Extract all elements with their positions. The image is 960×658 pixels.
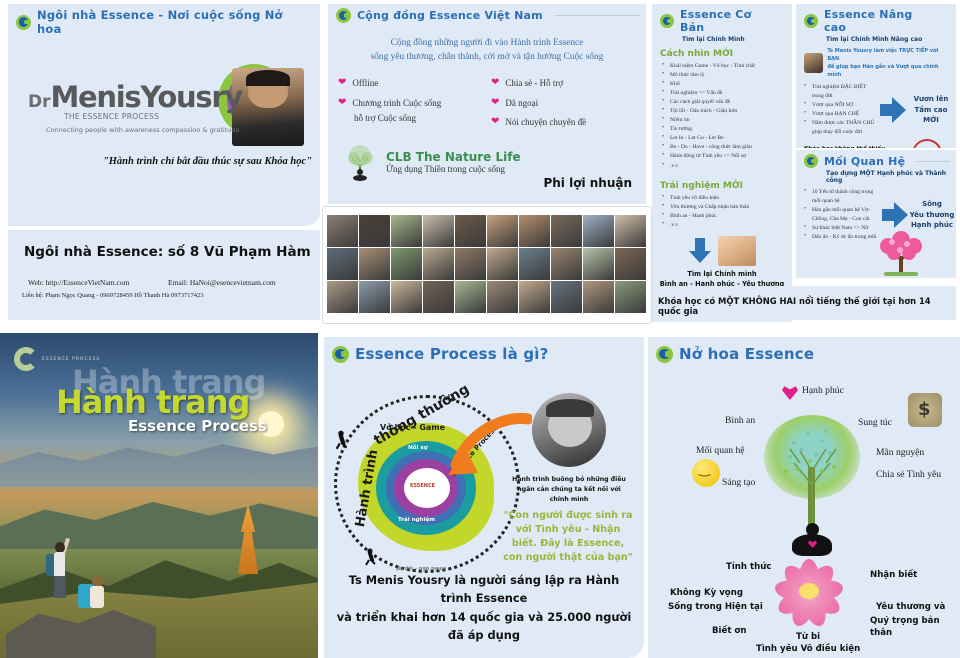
heart-icon: ❤ (338, 78, 346, 88)
photo-thumbnail (519, 281, 550, 313)
clb-subtitle: Ứng dụng Thiền trong cuộc sống (386, 164, 521, 174)
watermark-text: ESSENCE PROCESS (42, 357, 100, 362)
photo-thumbnail (455, 215, 486, 247)
heart-tree-icon (866, 230, 936, 276)
photo-thumbnail (487, 281, 518, 313)
photo-thumbnail (359, 281, 390, 313)
panel-photo-grid (322, 206, 652, 324)
journey-title: Hành trang (56, 383, 249, 421)
website-link[interactable]: Web: http://EssenceVietNam.com (28, 278, 129, 287)
list-item: Khái niệm Game - Vỏ bọc - Tính chất (662, 62, 788, 71)
essence-logo-icon (656, 346, 673, 363)
list-item-continuation: hỗ trợ Cuộc sống (354, 113, 487, 123)
walking-person-icon (330, 429, 352, 451)
label-happiness: Hạnh phúc (802, 385, 844, 396)
brand-tagline-1: THE ESSENCE PROCESS (64, 112, 159, 121)
clb-title: CLB The Nature Life (386, 150, 521, 164)
panel-subtitle: Tạo dựng MỘT Hạnh phúc và Thành công (826, 170, 956, 184)
course-quote: "Hành trình chỉ bắt đầu thúc sự sau Khóa… (44, 156, 312, 167)
panel-title: Ngôi nhà Essence - Nơi cuộc sống Nở hoa (37, 8, 302, 36)
photo-thumbnail (615, 281, 646, 313)
photo-thumbnail (391, 281, 422, 313)
advanced-note-row: Khóa học không thể thiếu cho Essence Pro… (796, 139, 956, 148)
list-item: Khổ (662, 80, 788, 89)
photo-thumbnail (583, 215, 614, 247)
advanced-intro-line1: Ts Menis Yousry làm việc TRỰC TIẾP với B… (827, 47, 950, 63)
panel-title: Essence Nâng cao (824, 8, 938, 34)
section-title-new-experience: Trải nghiệm MỚI (660, 181, 792, 191)
panel-header: Cộng đồng Essence Việt Nam (328, 4, 646, 25)
panel-essence-advanced: Essence Nâng cao Tìm lại Chính Mình Nâng… (796, 4, 956, 148)
panel-title: Essence Cơ Bản (680, 8, 774, 34)
label-unconditional-love: Tình yêu Vô điều kiện (756, 643, 860, 655)
photo-thumbnail (423, 281, 454, 313)
list-item: Mô thức tâm lý (662, 71, 788, 80)
heart-icon: ❤ (491, 78, 499, 88)
list-item: ❤ Offline (338, 78, 487, 89)
label-live-present: Sống trong Hiện tại (668, 601, 763, 613)
list-item: Các cách giải quyết vấn đề (662, 98, 788, 107)
photo-thumbnail (551, 281, 582, 313)
money-bag-icon (908, 393, 942, 427)
photo-thumbnail (455, 248, 486, 280)
photo-thumbnail (487, 215, 518, 247)
list-item: Vượt qua HẠN CHẾ (804, 110, 876, 119)
photo-thumbnail (327, 215, 358, 247)
panel-subtitle: Tìm lại Chính Mình Nâng cao (826, 36, 956, 43)
essence-logo-icon (332, 346, 349, 363)
label-gratitude: Biết ơn (712, 625, 746, 637)
panel-header: Nở hoa Essence (648, 337, 960, 365)
panel-title: Cộng đồng Essence Việt Nam (357, 9, 543, 22)
list-item: ❤ Chia sẻ - Hỗ trợ (491, 78, 640, 89)
panel-subtitle: Tìm lại Chính Mình (682, 36, 792, 43)
brand-wordmark: DrMenisYousry (28, 80, 242, 114)
brand-tagline-2: Connecting people with awareness compass… (46, 126, 240, 134)
list-item: Tình yêu vô điều kiện (662, 194, 788, 203)
hiker-standing (46, 538, 76, 600)
panel-header: Essence Cơ Bản (652, 4, 792, 36)
list-item: Hàn gắn mối quan hệ Vợ-Chồng, Cha Mẹ - C… (804, 206, 878, 224)
label-peace: Bình an (725, 415, 755, 426)
menis-avatar-icon (804, 53, 823, 73)
community-lead: Cộng đồng những người đi vào Hành trình … (338, 37, 636, 64)
panel-essence-process: Essence Process là gì? ESSENCE Vỏ bọc - … (324, 337, 644, 658)
panel-relationship: Mối Quan Hệ Tạo dựng MỘT Hạnh phúc và Th… (796, 150, 956, 278)
list-item: .v.v (662, 162, 788, 171)
panel-address-card: Ngôi nhà Essence: số 8 Vũ Phạm Hàm Web: … (8, 230, 320, 320)
ring-icon (14, 347, 38, 371)
panel-community: Cộng đồng Essence Việt Nam Cộng đồng nhữ… (328, 4, 646, 204)
panel-header: Ngôi nhà Essence - Nơi cuộc sống Nở hoa (8, 4, 320, 38)
list-item: ❤ Chương trình Cuộc sống (338, 98, 487, 109)
photo-thumbnail (615, 248, 646, 280)
advanced-note-1: Khóa học không thể thiếu cho (804, 145, 898, 148)
photo-thumbnail (327, 248, 358, 280)
list-item: .v.v (662, 221, 788, 230)
label-creativity: Sáng tạo (722, 477, 755, 488)
photo-thumbnail (327, 281, 358, 313)
right-arrow-icon (882, 202, 908, 228)
panel-header: Essence Process là gì? (324, 337, 644, 365)
contact-phones: Liên hệ: Phạm Ngọc Quang - 0969728459 Hồ… (22, 292, 204, 299)
smiley-face-icon (692, 459, 720, 487)
bloom-tree-icon (760, 413, 864, 533)
banner-text: Khóa học có MỘT KHÔNG HAI nổi tiếng thế … (652, 286, 956, 316)
photo-thumbnail (423, 248, 454, 280)
mountain-ridge-far (0, 429, 318, 487)
tree-icon (340, 142, 380, 182)
basic-result-row (652, 236, 792, 266)
new-view-list: Khái niệm Game - Vỏ bọc - Tính chấtMô th… (662, 62, 788, 171)
booked-stamp-icon: BOOKED (909, 136, 945, 148)
list-item: ❤ Nói chuyện chuyên đề (491, 117, 640, 128)
new-experience-list: Tình yêu vô điều kiệnYêu thương và Chấp … (662, 194, 788, 230)
smiling-woman-photo (718, 236, 756, 266)
photo-thumbnail (519, 215, 550, 247)
photo-thumbnail (455, 281, 486, 313)
list-item: ❤ Dã ngoại (491, 98, 640, 109)
list-item: Be - Do - Have - công thức làm giàu (662, 143, 788, 152)
panel-title: Mối Quan Hệ (824, 155, 905, 168)
essence-logo-icon (804, 154, 818, 168)
advanced-outcome: Vươn lên Tầm cao MỚI (906, 94, 956, 126)
label-awareness: Nhận biết (870, 569, 917, 581)
list-item: Vượt qua NỖI SỢ (804, 101, 876, 110)
journey-subtitle: Essence Process (128, 417, 267, 435)
list-item: 10 Yếu tố thành công trong mối quan hệ (804, 188, 878, 206)
photo-thumbnail (487, 248, 518, 280)
journey-photo-panel: ESSENCE PROCESS Hành trang Hành trang Es… (0, 333, 318, 658)
pink-heart-icon (782, 385, 798, 400)
photo-thumbnail (359, 215, 390, 247)
heart-icon: ❤ (338, 98, 346, 108)
menis-yousry-photo (232, 68, 304, 146)
photo-thumbnail (391, 215, 422, 247)
panel-header: Mối Quan Hệ (796, 150, 956, 170)
address-title: Ngôi nhà Essence: số 8 Vũ Phạm Hàm (24, 244, 311, 260)
community-activities: ❤ Offline ❤ Chương trình Cuộc sống hỗ tr… (338, 78, 640, 136)
menis-portrait-icon (532, 393, 606, 467)
portrait-caption: Hành trình buông bỏ những điều ngăn cản … (504, 475, 634, 506)
hiker-sitting (78, 574, 112, 622)
relationship-outcome: Sống Yêu thương Hạnh phúc (908, 199, 956, 231)
header-rule (555, 15, 640, 16)
email-link[interactable]: Email: HaNoi@esencevietnam.com (168, 278, 276, 287)
activities-left: ❤ Offline ❤ Chương trình Cuộc sống hỗ tr… (338, 78, 487, 136)
list-item: Hành động từ Tình yêu <> Nỗi sợ (662, 152, 788, 161)
photo-thumbnail (583, 281, 614, 313)
founder-footer: Ts Menis Yousry là người sáng lập ra Hàn… (334, 571, 634, 644)
list-item: Tin tưởng (662, 125, 788, 134)
panel-title: Essence Process là gì? (355, 345, 549, 363)
photo-thumbnail (391, 248, 422, 280)
down-arrow-icon (688, 238, 712, 264)
label-self-respect: Quý trọng bản thân (870, 615, 960, 639)
panel-essence-basic: Essence Cơ Bản Tìm lại Chính Mình Cách n… (652, 4, 792, 322)
advanced-intro: Ts Menis Yousry làm việc TRỰC TIẾP với B… (804, 47, 950, 79)
list-item: Bình an - Hạnh phúc (662, 212, 788, 221)
essence-quote: "Con người được sinh ra với Tình yêu - N… (500, 509, 636, 565)
worldwide-banner: Khóa học có MỘT KHÔNG HAI nổi tiếng thế … (652, 286, 956, 320)
community-photo-grid (327, 215, 646, 313)
list-item: Trải nghiệm <> Vấn đề (662, 89, 788, 98)
core-label: ESSENCE (410, 483, 435, 489)
heart-icon: ❤ (491, 98, 499, 108)
ring-mid-label: Nỗi sợ (408, 445, 428, 451)
label-awakening: Tỉnh thức (726, 561, 771, 573)
photo-thumbnail (551, 248, 582, 280)
essence-logo-icon (660, 14, 674, 28)
activities-right: ❤ Chia sẻ - Hỗ trợ ❤ Dã ngoại ❤ Nói chuy… (491, 78, 640, 136)
panel-bloom: Nở hoa Essence Hạnh phúc Bình an Mối qua… (648, 337, 960, 658)
essence-logo-icon (804, 14, 818, 28)
label-no-expectation: Không Kỳ vọng (670, 587, 743, 599)
photo-thumbnail (423, 215, 454, 247)
list-item: Let In - Let Go - Let Be (662, 134, 788, 143)
label-fulfilment: Mãn nguyện (876, 447, 924, 458)
section-title-new-view: Cách nhìn MỚI (660, 49, 792, 59)
list-item: Niềm tin (662, 116, 788, 125)
clb-text: CLB The Nature Life Ứng dụng Thiền trong… (386, 150, 521, 174)
essence-logo-icon (336, 8, 351, 23)
photo-thumbnail (359, 248, 390, 280)
walking-person-icon-2 (360, 547, 380, 567)
essence-logo-icon (16, 15, 31, 30)
panel-essence-house: Ngôi nhà Essence - Nơi cuộc sống Nở hoa … (8, 4, 320, 226)
label-love-and: Yêu thương và (876, 601, 945, 613)
list-item: Nắm được các THẦN CHÚ giúp thay đổi cuộc… (804, 119, 876, 137)
advanced-intro-line2: để giúp bạn Hàn gắn và Vượt qua chính mì… (827, 63, 950, 79)
poster-page: Ngôi nhà Essence - Nơi cuộc sống Nở hoa … (0, 0, 960, 658)
panel-header: Essence Nâng cao (796, 4, 956, 36)
photo-thumbnail (519, 248, 550, 280)
nonprofit-label: Phi lợi nhuận (543, 176, 632, 190)
list-item: Trải nghiệm ĐẶC BIỆT trong đời (804, 83, 876, 101)
label-share-love: Chia sẻ Tình yêu (876, 469, 941, 480)
ring-inner-label: Trải nghiệm (398, 517, 435, 523)
list-item: Tội lỗi - Oán trách - Giận hờn (662, 107, 788, 116)
advanced-body: Trải nghiệm ĐẶC BIỆT trong đờiVượt qua N… (796, 83, 956, 137)
advanced-list: Trải nghiệm ĐẶC BIỆT trong đờiVượt qua N… (804, 83, 876, 137)
photo-thumbnail (551, 215, 582, 247)
label-compassion: Từ bi (796, 631, 820, 643)
label-relationship: Mối quan hệ (696, 445, 745, 456)
panel-title: Nở hoa Essence (679, 345, 814, 363)
lotus-flower-icon (766, 555, 852, 631)
photo-thumbnail (615, 215, 646, 247)
photo-thumbnail (583, 248, 614, 280)
right-arrow-icon (880, 97, 906, 123)
dr-menis-yousry-logo: DrMenisYousry THE ESSENCE PROCESS Connec… (22, 66, 308, 152)
advanced-stamp-block: BOOKED Hạn chế Số lượng (898, 139, 956, 148)
header-rule (917, 161, 950, 162)
list-item: Yêu thương và Chấp nhận bản thân (662, 203, 788, 212)
heart-icon: ❤ (491, 117, 499, 127)
